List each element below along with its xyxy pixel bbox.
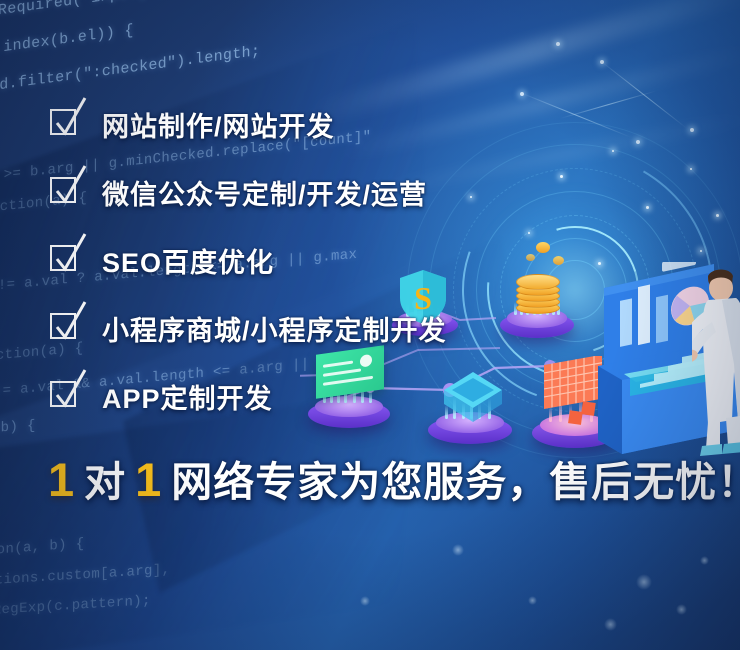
- headline-number-second: 1: [135, 453, 162, 506]
- headline-slogan: 1对1网络专家为您服务，售后无忧！: [48, 448, 740, 508]
- headline-mid-word: 对: [84, 459, 126, 505]
- checklist-label: 小程序商城/小程序定制开发: [102, 309, 447, 348]
- headline-number-first: 1: [48, 453, 75, 506]
- headline-tail: 网络专家为您服务，售后无忧！: [171, 459, 740, 505]
- checklist-item-wechat[interactable]: 微信公众号定制/开发/运营: [50, 168, 690, 216]
- checkbox-checked-icon: [50, 245, 80, 275]
- checklist-item-website[interactable]: 网站制作/网站开发: [50, 100, 690, 148]
- service-checklist: 网站制作/网站开发 微信公众号定制/开发/运营 SEO百度优化 小程序商城/小程…: [50, 100, 690, 440]
- promo-banner: .isRequired("input[type=checkbox]").each…: [0, 0, 740, 650]
- checklist-item-miniprogram[interactable]: 小程序商城/小程序定制开发: [50, 304, 690, 352]
- checkbox-checked-icon: [50, 381, 80, 411]
- technician-figure: [692, 264, 740, 460]
- checklist-label: APP定制开发: [102, 377, 273, 416]
- checklist-item-seo[interactable]: SEO百度优化: [50, 236, 690, 284]
- checkbox-checked-icon: [50, 109, 80, 139]
- code-line: ction(b) {: [0, 418, 36, 440]
- checklist-label: SEO百度优化: [102, 241, 274, 280]
- code-line: = d.index(b.el)) {: [0, 22, 134, 61]
- checklist-label: 网站制作/网站开发: [102, 105, 335, 144]
- code-line: .isRequired("input[type=checkbox]").each: [0, 0, 343, 23]
- checklist-label: 微信公众号定制/开发/运营: [102, 173, 427, 212]
- checkbox-checked-icon: [50, 177, 80, 207]
- checkbox-checked-icon: [50, 313, 80, 343]
- checklist-item-app[interactable]: APP定制开发: [50, 372, 690, 420]
